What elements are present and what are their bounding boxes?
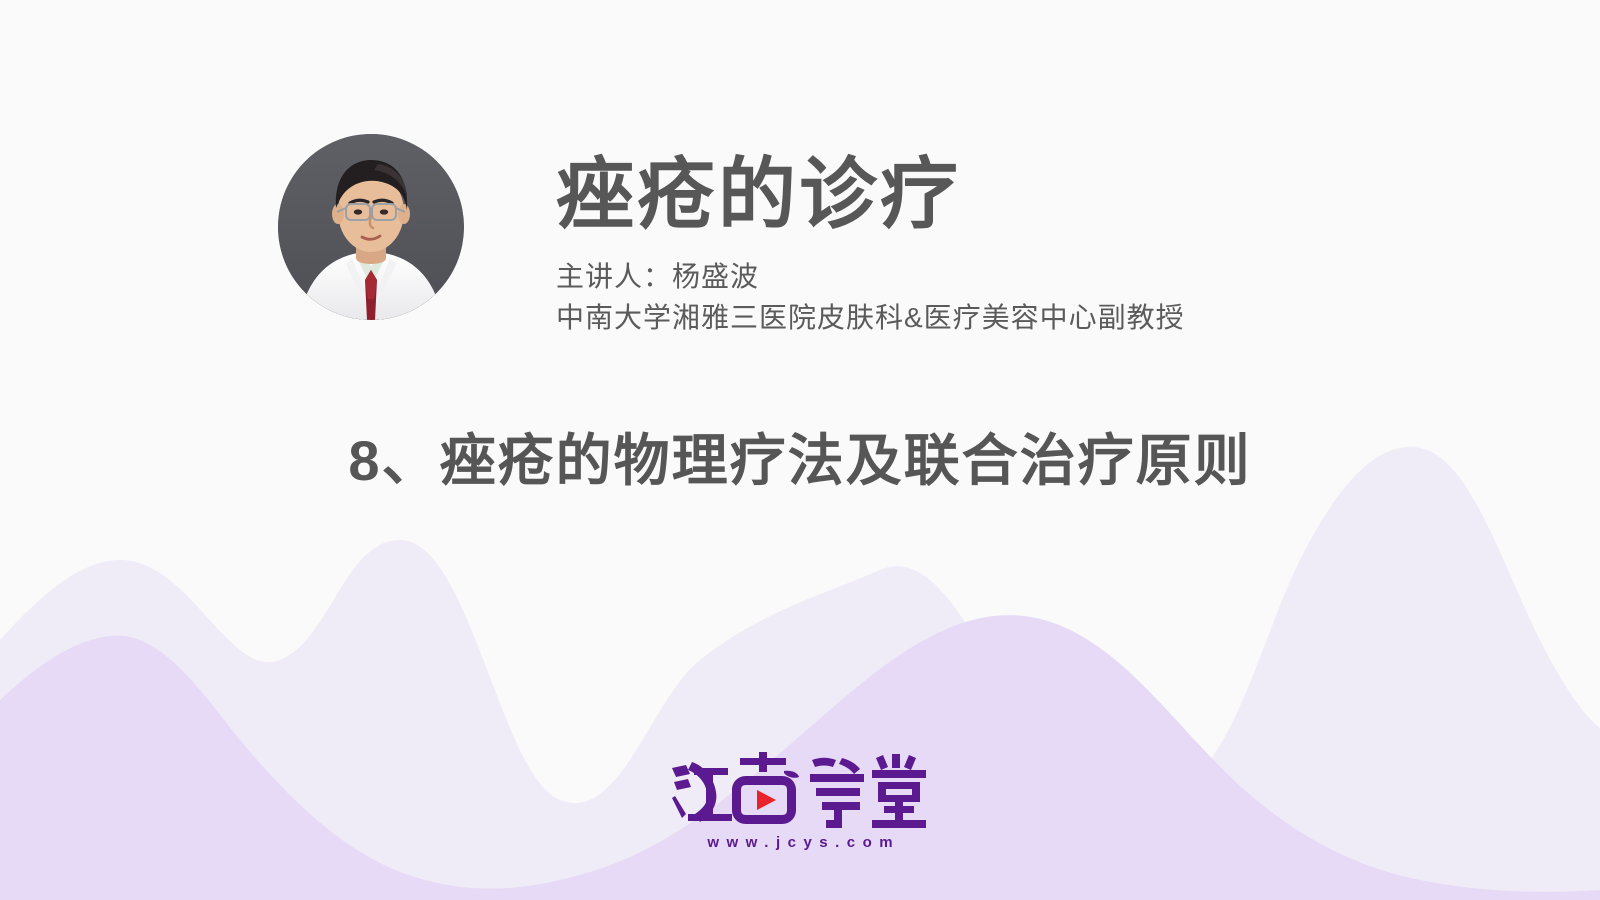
slide-canvas: 痤疮的诊疗 主讲人：杨盛波 中南大学湘雅三医院皮肤科&医疗美容中心副教授 8、痤…	[0, 0, 1600, 900]
section-heading: 8、痤疮的物理疗法及联合治疗原则	[0, 416, 1600, 497]
logo-wordmark-icon	[666, 752, 934, 832]
header-text-block: 痤疮的诊疗 主讲人：杨盛波 中南大学湘雅三医院皮肤科&医疗美容中心副教授	[556, 155, 1456, 338]
logo-char-tang	[872, 754, 926, 828]
logo-char-hong	[672, 762, 732, 822]
brand-logo: 红古学堂	[0, 752, 1600, 851]
logo-url[interactable]: www.jcys.com	[0, 834, 1600, 851]
speaker-name-line: 主讲人：杨盛波	[556, 257, 1456, 298]
logo-char-xue	[810, 758, 864, 828]
logo-char-gu	[732, 752, 799, 824]
speaker-affiliation-line: 中南大学湘雅三医院皮肤科&医疗美容中心副教授	[556, 298, 1456, 339]
avatar-portrait-image	[278, 134, 464, 320]
page-title: 痤疮的诊疗	[556, 155, 1456, 233]
header-block: 痤疮的诊疗 主讲人：杨盛波 中南大学湘雅三医院皮肤科&医疗美容中心副教授	[0, 0, 1600, 380]
speaker-avatar	[278, 134, 464, 320]
play-button-icon	[757, 790, 776, 810]
